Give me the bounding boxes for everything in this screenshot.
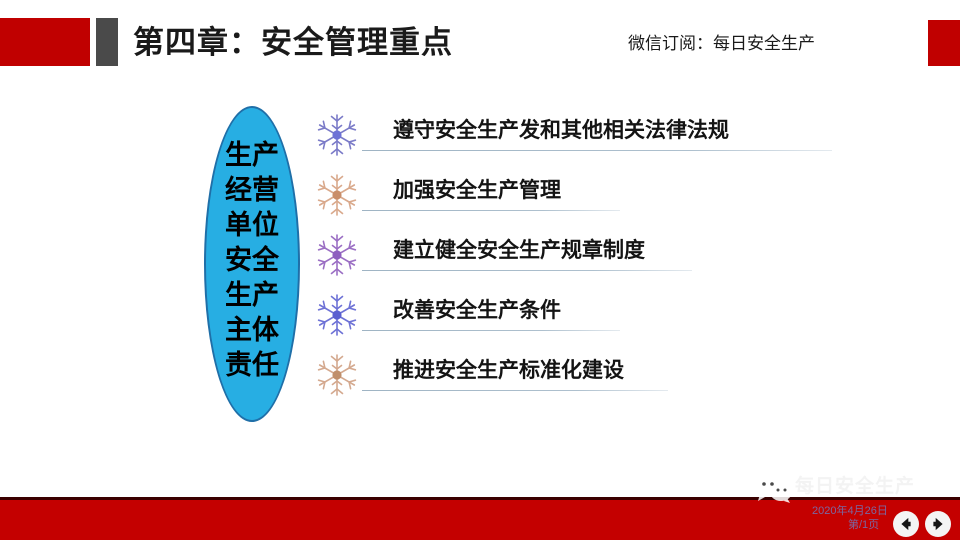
header-red-block-left: [0, 18, 90, 66]
ellipse-label-row: 生产: [204, 138, 300, 173]
list-item-underline: [362, 270, 692, 271]
header-gray-bar: [96, 18, 118, 66]
ellipse-label-row: 主体: [204, 313, 300, 348]
header-subscribe-text: 微信订阅：每日安全生产: [628, 32, 815, 56]
list-item-label: 推进安全生产标准化建设: [393, 356, 624, 386]
header-red-block-right: [928, 20, 960, 66]
ellipse-label-row: 生产: [204, 278, 300, 313]
snowflake-icon: [314, 292, 360, 338]
slide-header: 第四章：安全管理重点 微信订阅：每日安全生产: [0, 0, 960, 92]
list-item-underline: [362, 330, 620, 331]
list-item: 建立健全安全生产规章制度: [310, 226, 930, 286]
presentation-slide: 第四章：安全管理重点 微信订阅：每日安全生产 生产 经营 单位 安全 生产 主体…: [0, 0, 960, 540]
list-item-label: 建立健全安全生产规章制度: [393, 236, 645, 266]
watermark-date: 2020年4月26日: [812, 504, 888, 518]
ellipse-label-row: 安全: [204, 243, 300, 278]
list-item-label: 遵守安全生产发和其他相关法律法规: [393, 116, 729, 146]
list-item: 改善安全生产条件: [310, 286, 930, 346]
watermark-brand: 每日安全生产: [795, 474, 915, 500]
nav-next-button[interactable]: [925, 511, 951, 537]
wechat-icon: [753, 473, 793, 503]
ellipse-label: 生产 经营 单位 安全 生产 主体 责任: [204, 138, 300, 383]
page-title: 第四章：安全管理重点: [133, 22, 453, 64]
ellipse-label-row: 经营: [204, 173, 300, 208]
snowflake-icon: [314, 352, 360, 398]
snowflake-icon: [314, 112, 360, 158]
nav-prev-button[interactable]: [893, 511, 919, 537]
list-item-label: 加强安全生产管理: [393, 176, 561, 206]
list-item-underline: [362, 210, 620, 211]
snowflake-icon: [314, 232, 360, 278]
responsibility-list: 遵守安全生产发和其他相关法律法规: [310, 106, 930, 406]
list-item-underline: [362, 390, 668, 391]
watermark-page-number: 第/1页: [848, 518, 879, 532]
list-item: 遵守安全生产发和其他相关法律法规: [310, 106, 930, 166]
list-item: 加强安全生产管理: [310, 166, 930, 226]
ellipse-label-row: 单位: [204, 208, 300, 243]
list-item-label: 改善安全生产条件: [393, 296, 561, 326]
list-item: 推进安全生产标准化建设: [310, 346, 930, 406]
list-item-underline: [362, 150, 832, 151]
ellipse-label-row: 责任: [204, 348, 300, 383]
main-topic-ellipse: 生产 经营 单位 安全 生产 主体 责任: [204, 106, 300, 422]
snowflake-icon: [314, 172, 360, 218]
